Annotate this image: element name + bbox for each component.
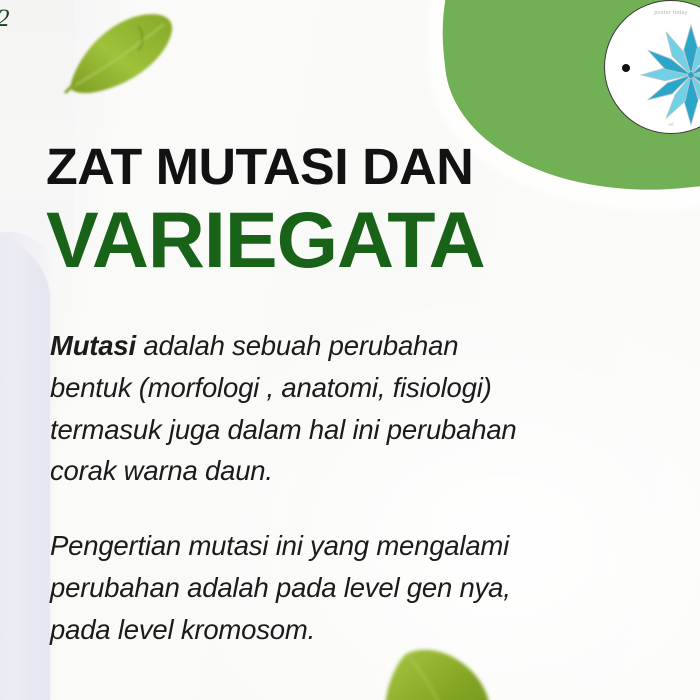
paragraph-line-text: adalah sebuah perubahan [136,330,458,361]
leaf-top-icon [52,4,180,100]
paragraph-line: pada level kromosom. [50,609,628,651]
badge-watermark-top: poster today [605,10,700,16]
poster-canvas: poster today [0,0,700,700]
left-accent-panel-gradient [0,232,56,700]
body-copy-block: Mutasi adalah sebuah perubahan bentuk (m… [50,325,628,651]
starburst-flower-icon [639,23,700,127]
paragraph-definition: Mutasi adalah sebuah perubahan bentuk (m… [50,325,628,492]
paragraph-line: corak warna daun. [50,450,628,492]
paragraph-line: termasuk juga dalam hal ini perubahan [50,409,628,451]
headline-line-2: VARIEGATA [46,200,646,279]
paragraph-line: perubahan adalah pada level gen nya, [50,567,628,609]
paragraph-line: Pengertian mutasi ini yang mengalami [50,525,628,567]
page-number: 2 [0,5,10,33]
badge-watermark-bottom: ref [605,122,700,127]
paragraph-line: bentuk (morfologi , anatomi, fisiologi) [50,367,628,409]
headline-block: ZAT MUTASI DAN VARIEGATA [46,140,646,279]
paragraph-line: Mutasi adalah sebuah perubahan [50,325,628,367]
headline-line-1: ZAT MUTASI DAN [46,140,658,194]
paragraph-explanation: Pengertian mutasi ini yang mengalami per… [50,525,628,650]
badge-dot-icon [622,64,630,72]
paragraph-lead-word: Mutasi [50,330,136,361]
